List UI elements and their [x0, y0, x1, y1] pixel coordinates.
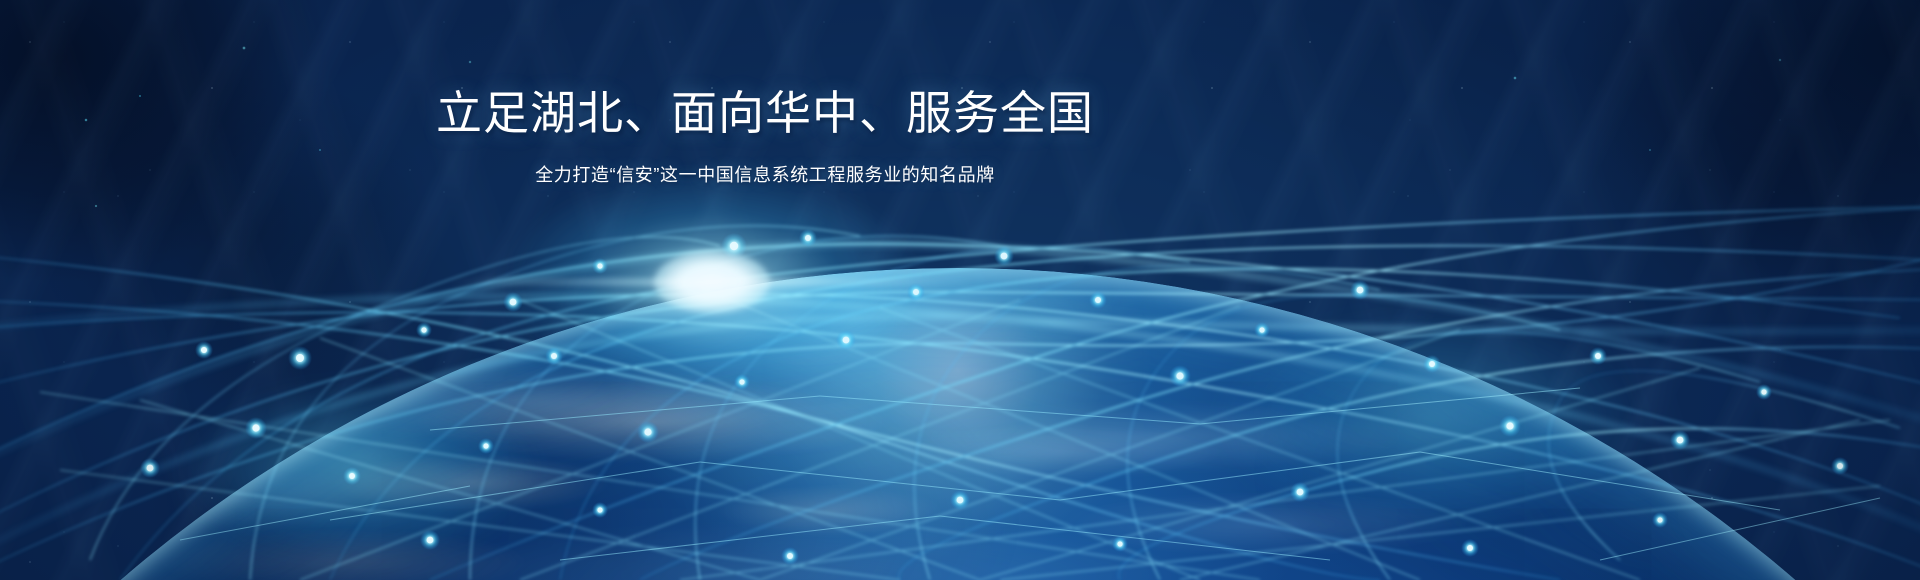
- banner-subheadline: 全力打造“信安”这一中国信息系统工程服务业的知名品牌: [0, 162, 1530, 188]
- lens-flare-streak: [402, 278, 1022, 286]
- left-glow: [180, 380, 540, 560]
- banner-copy: 立足湖北、面向华中、服务全国 全力打造“信安”这一中国信息系统工程服务业的知名品…: [0, 0, 1530, 188]
- hero-banner: 立足湖北、面向华中、服务全国 全力打造“信安”这一中国信息系统工程服务业的知名品…: [0, 0, 1920, 580]
- banner-headline: 立足湖北、面向华中、服务全国: [0, 86, 1530, 140]
- right-glow: [1220, 310, 1640, 530]
